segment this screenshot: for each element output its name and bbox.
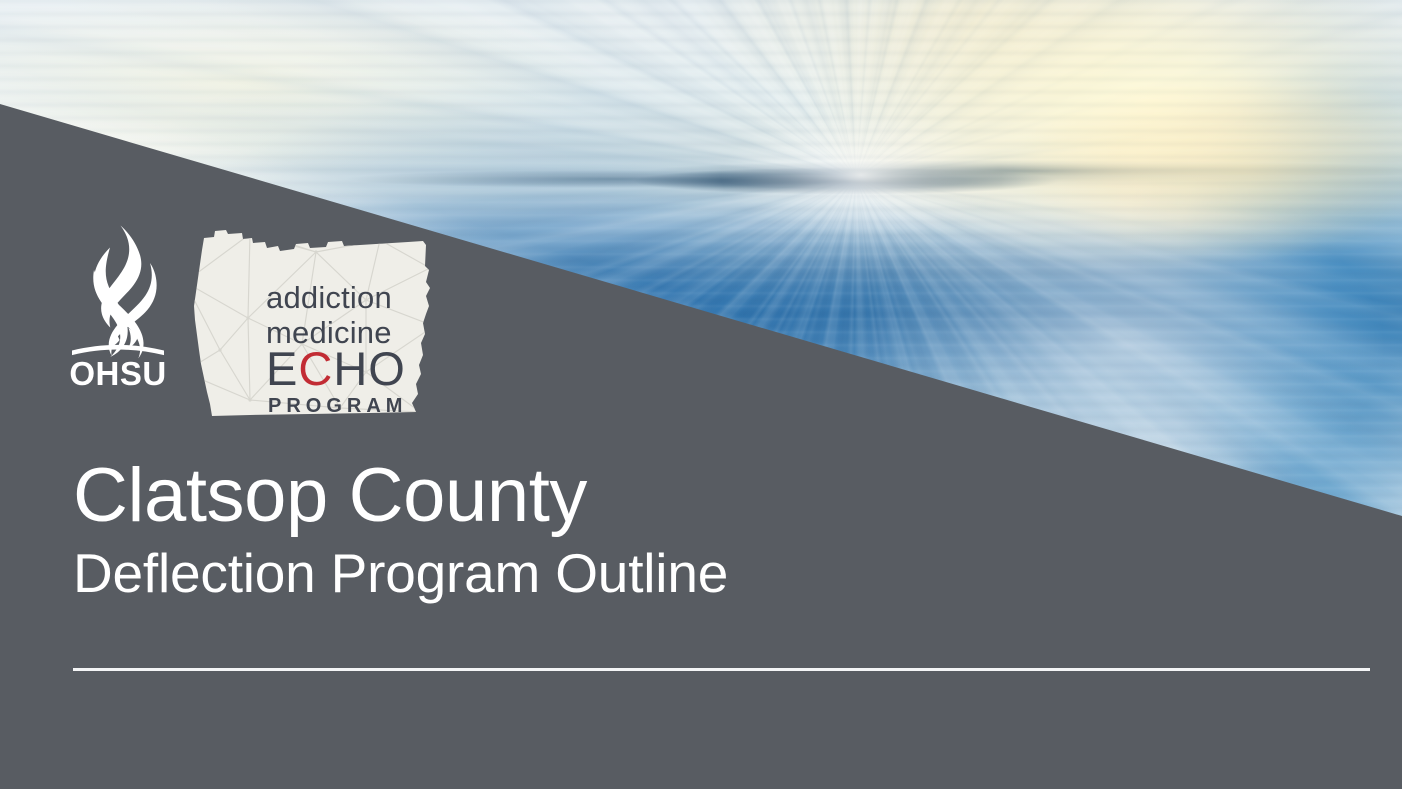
title-divider-rule (73, 668, 1370, 671)
page-title: Clatsop County (73, 459, 1373, 533)
echo-wordmark-letters: ECHO (266, 342, 406, 395)
logo-bar: OHSU (64, 222, 437, 420)
echo-program-oregon-logo: addiction medicine ECHO PROGRAM (190, 222, 437, 420)
ohsu-wordmark: OHSU (69, 355, 166, 390)
title-slide: OHSU (0, 0, 1402, 789)
echo-letter-e: E (266, 342, 298, 395)
echo-line-program: PROGRAM (268, 395, 407, 417)
echo-wordmark: ECHO (266, 342, 406, 395)
echo-line-addiction: addiction (266, 280, 392, 315)
echo-letter-c: C (298, 342, 333, 395)
title-block: Clatsop County Deflection Program Outlin… (73, 459, 1373, 602)
echo-letter-o: O (368, 342, 406, 395)
page-subtitle: Deflection Program Outline (73, 545, 1373, 601)
echo-letter-h: H (333, 342, 368, 395)
ohsu-flame-icon: OHSU (64, 222, 172, 390)
